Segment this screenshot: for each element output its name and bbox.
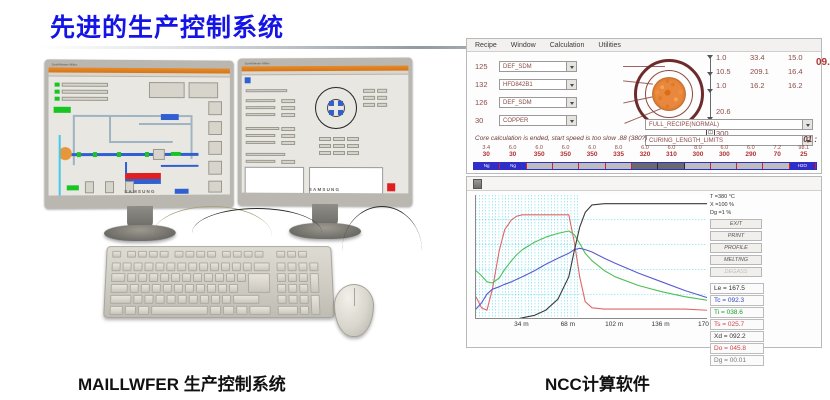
material-row: 30 COPPER [475, 113, 623, 128]
dim-value3: 16.2 [788, 81, 803, 90]
slide-root: 先进的生产控制系统 SynthMaster Millex [0, 0, 830, 400]
dim-thickness: 1.0 [716, 53, 726, 62]
value-ts: Ts = 025.7 [710, 319, 764, 330]
zone-column: 3.430 [473, 145, 499, 158]
monitor-left-screen: SAMSUNG [49, 67, 230, 195]
zone-bottom-value: 300 [711, 151, 737, 158]
caption-right: NCC计算软件 [545, 370, 650, 395]
chevron-down-icon[interactable] [566, 116, 576, 125]
x-tick-label: 68 m [561, 321, 575, 328]
x-axis-tick-labels: 34 m68 m102 m136 m170 m [475, 321, 715, 333]
zone-segment-label: H2O [790, 163, 815, 169]
monitor-left-brand: SAMSUNG [49, 189, 230, 195]
material-select[interactable]: DEF_SDM [499, 61, 577, 72]
zone-bottom-value: 320 [632, 151, 658, 158]
zone-segment[interactable] [606, 163, 632, 169]
profile-button[interactable]: PROFILE [710, 243, 762, 253]
menu-utilities[interactable]: Utilities [598, 42, 621, 49]
ncc-graph-window: 34 m68 m102 m136 m170 m T =380 °C X =100… [466, 176, 822, 348]
graph-legend-panel: T =380 °C X =100 % Dg =1 % EXIT PRINT PR… [710, 193, 766, 366]
zone-column: 6.030 [499, 145, 525, 158]
zone-column: 6.0310 [658, 145, 684, 158]
dim-value2: 33.4 [750, 53, 765, 62]
zone-column: 6.0350 [579, 145, 605, 158]
value-xd: Xd = 092.2 [710, 331, 764, 342]
material-value: COPPER [503, 118, 528, 124]
monitor-right-screen: SAMSUNG [242, 66, 409, 194]
mouse[interactable] [334, 284, 374, 337]
legend-degassing: Dg =1 % [710, 209, 766, 217]
print-button[interactable]: PRINT [710, 231, 762, 241]
material-row: 125 DEF_SDM [475, 59, 623, 74]
chevron-down-icon[interactable] [566, 62, 576, 71]
caption-left: MAILLWFER 生产控制系统 [78, 370, 286, 395]
degass-button: DEGASS [710, 267, 762, 277]
ncc-recipe-window: Recipe Window Calculation Utilities 125 … [466, 38, 822, 174]
zone-bottom-value: 350 [552, 151, 578, 158]
keyboard[interactable] [103, 246, 335, 318]
series-tc [476, 248, 707, 309]
monitor-right-brand: SAMSUNG [242, 187, 409, 193]
zone-bottom-value: 350 [579, 151, 605, 158]
zone-column: 6.0350 [526, 145, 552, 158]
zone-bottom-value: 335 [605, 151, 631, 158]
zone-segment[interactable] [737, 163, 763, 169]
dim-value2: 209.1 [750, 67, 769, 76]
zone-bottom-value: 30 [473, 151, 499, 158]
zone-segment[interactable]: Ng [474, 163, 500, 169]
zone-segment[interactable]: Ng [500, 163, 526, 169]
dim-value3: 16.4 [788, 67, 803, 76]
dim-value3: 15.0 [788, 53, 803, 62]
recipe-mode-select[interactable]: FULL_RECIPE(NORMAL) [645, 119, 813, 130]
curing-profile-plot [475, 195, 707, 319]
menu-recipe[interactable]: Recipe [475, 42, 497, 49]
value-tc: Tc = 092.3 [710, 295, 764, 306]
zone-bottom-value: 350 [526, 151, 552, 158]
zone-bottom-value: 25 [791, 151, 817, 158]
ncc-menubar: Recipe Window Calculation Utilities [467, 39, 821, 52]
material-number: 126 [475, 98, 499, 107]
zone-segment[interactable]: H2O [790, 163, 816, 169]
recipe-mode-value: FULL_RECIPE(NORMAL) [649, 122, 719, 128]
scada-process-diagram [49, 76, 230, 195]
zone-column: 98.125 [791, 145, 817, 158]
value-do: Do = 045.8 [710, 343, 764, 354]
melting-button[interactable]: MELTING [710, 255, 762, 265]
dim-thickness: 10.5 [716, 67, 731, 76]
series-ti [476, 231, 707, 300]
chevron-down-icon[interactable] [566, 80, 576, 89]
ncc-graph-toolbar [467, 177, 821, 191]
monitor-right: SynthMaster Millex [238, 57, 413, 206]
mouse-button-divider [354, 288, 355, 306]
material-value: DEF_SDM [503, 64, 532, 70]
material-select[interactable]: DEF_SDM [499, 97, 577, 108]
limits-mode-value: CURING_LENGTH_LIMITS [649, 138, 723, 144]
material-number: 125 [475, 62, 499, 71]
zone-column: 8.0335 [605, 145, 631, 158]
ot-label: 01 : [803, 135, 817, 144]
legend-temperature: T =380 °C [710, 193, 766, 201]
chevron-down-icon[interactable] [566, 98, 576, 107]
zone-bottom-value: 70 [764, 151, 790, 158]
zone-segment[interactable] [711, 163, 737, 169]
zone-bottom-value: 300 [685, 151, 711, 158]
status-note: Core calculation is ended, start speed i… [475, 135, 647, 142]
exit-button[interactable]: EXIT [710, 219, 762, 229]
zone-segment[interactable] [632, 163, 658, 169]
material-row: 126 DEF_SDM [475, 95, 623, 110]
x-tick-label: 136 m [652, 321, 670, 328]
zone-segment[interactable] [579, 163, 605, 169]
value-le: Le = 167.5 [710, 283, 764, 294]
zone-segment[interactable] [658, 163, 684, 169]
zone-segment[interactable] [685, 163, 711, 169]
value-dg: Dg = 00.01 [710, 355, 764, 366]
material-value: HFD842B1 [503, 82, 533, 88]
zone-column: 8.0300 [685, 145, 711, 158]
material-select[interactable]: COPPER [499, 115, 577, 126]
zone-column: 7.270 [764, 145, 790, 158]
zone-column: 6.0300 [711, 145, 737, 158]
material-layer-list: 125 DEF_SDM 132 HFD842B1 126 DEF_SDM [475, 59, 623, 131]
zone-segment-label: Ng [500, 163, 525, 169]
dim-value2: 16.2 [750, 81, 765, 90]
zone-segment[interactable] [527, 163, 553, 169]
dim-thickness: 1.0 [716, 81, 726, 90]
material-number: 30 [475, 116, 499, 125]
zone-column: 6.0320 [632, 145, 658, 158]
zone-column: 6.0350 [552, 145, 578, 158]
camera-icon[interactable] [473, 179, 482, 189]
menu-calculation[interactable]: Calculation [550, 42, 585, 49]
chart-svg [476, 195, 707, 319]
zone-bar[interactable]: NgNgH2O [473, 162, 817, 170]
zone-segment-label: Ng [474, 163, 499, 169]
value-ti: Ti = 038.6 [710, 307, 764, 318]
dim-outer-diameter: 20.6 [716, 107, 731, 116]
chevron-down-icon[interactable] [802, 120, 812, 129]
page-title: 先进的生产控制系统 [50, 8, 284, 44]
zone-values-row: 3.4306.0306.03506.03506.03508.03356.0320… [473, 145, 817, 161]
x-tick-label: 102 m [605, 321, 623, 328]
zone-bottom-value: 310 [658, 151, 684, 158]
monitor-left: SynthMaster Millex [44, 59, 233, 208]
material-number: 132 [475, 80, 499, 89]
legend-conversion: X =100 % [710, 201, 766, 209]
zone-segment[interactable] [553, 163, 579, 169]
workstation-photo: SynthMaster Millex [42, 56, 442, 356]
material-select[interactable]: HFD842B1 [499, 79, 577, 90]
zone-bottom-value: 30 [499, 151, 525, 158]
clock-display: 09.51 [816, 57, 830, 68]
x-tick-label: 34 m [514, 321, 528, 328]
material-row: 132 HFD842B1 [475, 77, 623, 92]
computed-values-list: Le = 167.5Tc = 092.3Ti = 038.6Ts = 025.7… [710, 283, 766, 366]
conductor-core [652, 77, 686, 111]
zone-segment[interactable] [763, 163, 789, 169]
scada-parameter-form [242, 75, 409, 194]
material-value: DEF_SDM [503, 100, 532, 106]
zone-bottom-value: 290 [738, 151, 764, 158]
zone-strip: 3.4306.0306.03506.03506.03508.03356.0320… [473, 145, 817, 170]
zone-column: 6.0290 [738, 145, 764, 158]
menu-window[interactable]: Window [511, 42, 536, 49]
